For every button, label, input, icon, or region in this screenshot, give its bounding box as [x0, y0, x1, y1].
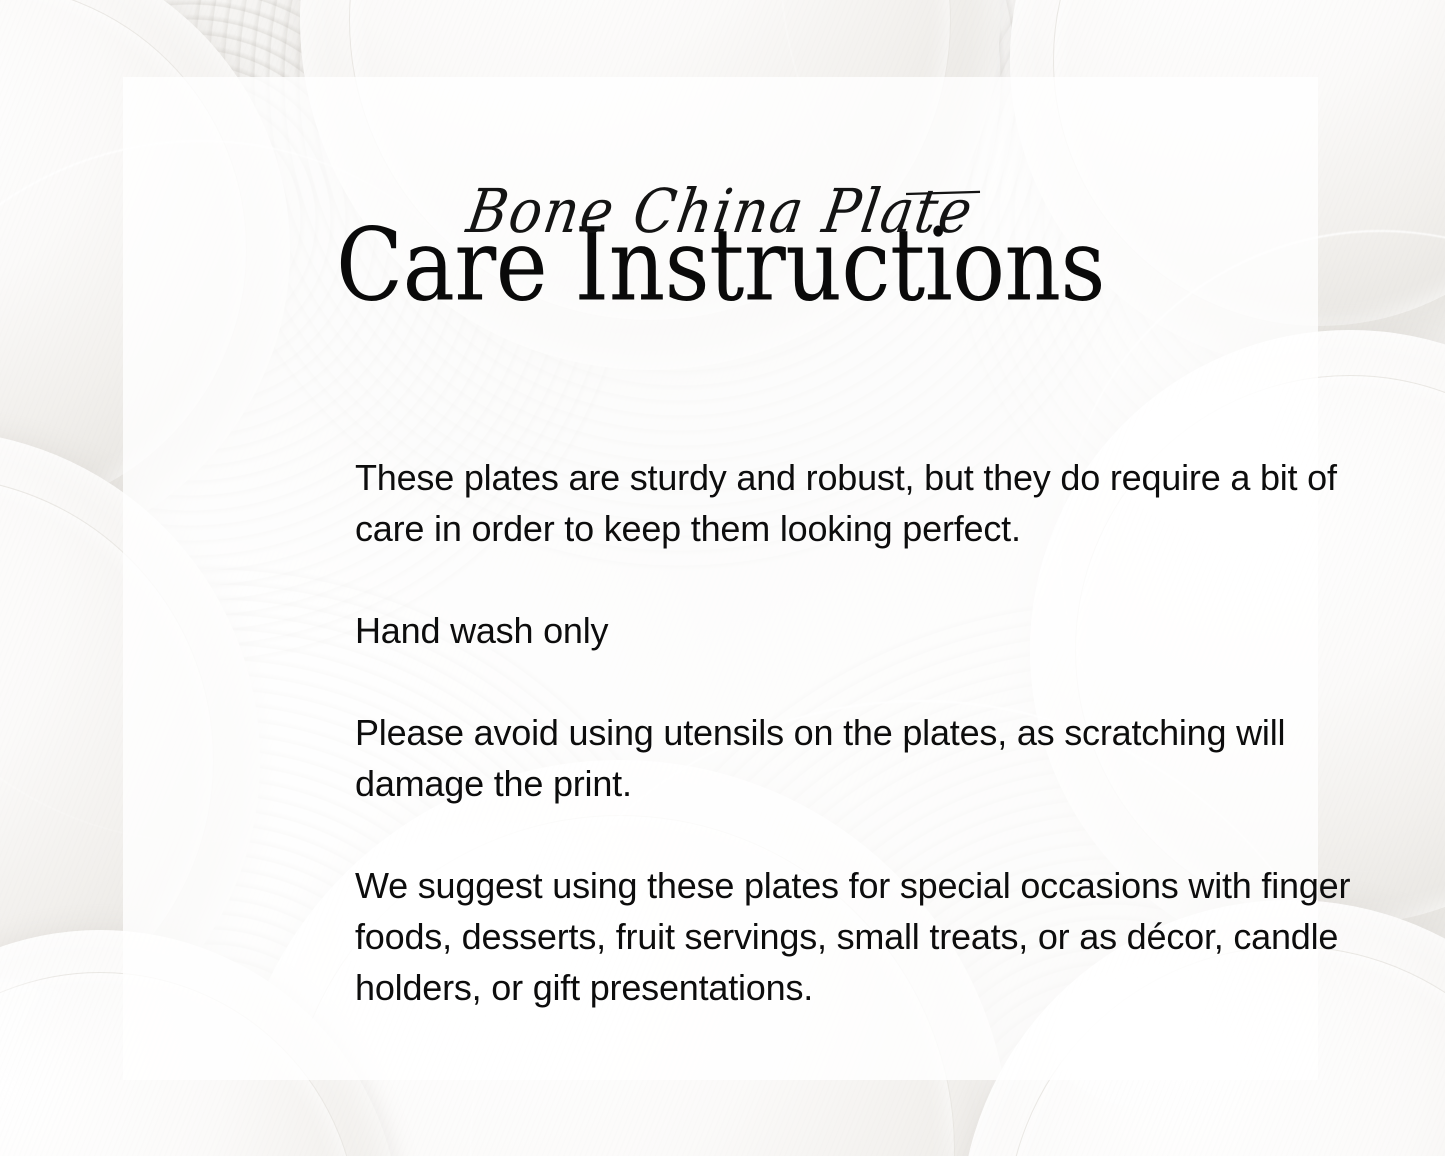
instruction-paragraph: Please avoid using utensils on the plate… [355, 707, 1355, 809]
care-instructions-body: These plates are sturdy and robust, but … [355, 452, 1355, 1013]
heading-group: Bone China Plate Care Instructions [123, 185, 1318, 309]
care-instructions-canvas: Bone China Plate Care Instructions These… [0, 0, 1445, 1156]
page-title: Care Instructions [111, 216, 1330, 316]
script-underline-flourish [906, 191, 980, 195]
instruction-paragraph: We suggest using these plates for specia… [355, 860, 1355, 1013]
script-subtitle-text: Bone China Plate [462, 176, 978, 247]
instruction-paragraph: These plates are sturdy and robust, but … [355, 452, 1355, 554]
instruction-paragraph: Hand wash only [355, 605, 1355, 656]
script-subtitle: Bone China Plate [463, 182, 978, 242]
content-card-overlay: Bone China Plate Care Instructions These… [123, 77, 1318, 1080]
